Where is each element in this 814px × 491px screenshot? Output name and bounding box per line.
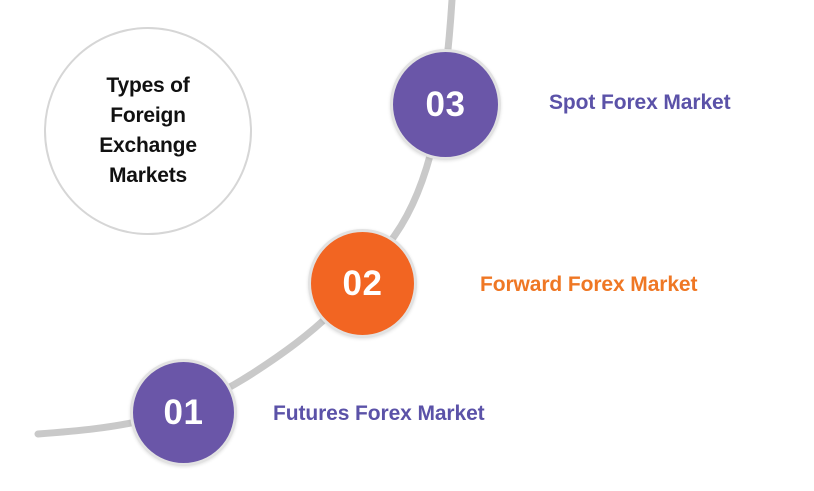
title-circle: Types of Foreign Exchange Markets [44,27,252,235]
step-bubble-02[interactable]: 02 [308,229,417,338]
step-bubble-01[interactable]: 01 [130,359,237,466]
step-bubble-03[interactable]: 03 [390,49,501,160]
infographic-canvas: Types of Foreign Exchange Markets 01 Fut… [0,0,814,491]
step-label-forward-forex-market: Forward Forex Market [480,274,697,295]
page-title: Types of Foreign Exchange Markets [99,71,197,191]
step-number-01: 01 [164,395,204,430]
step-number-03: 03 [426,87,466,122]
step-number-02: 02 [343,266,383,301]
step-label-futures-forex-market: Futures Forex Market [273,403,485,424]
step-label-spot-forex-market: Spot Forex Market [549,92,731,113]
